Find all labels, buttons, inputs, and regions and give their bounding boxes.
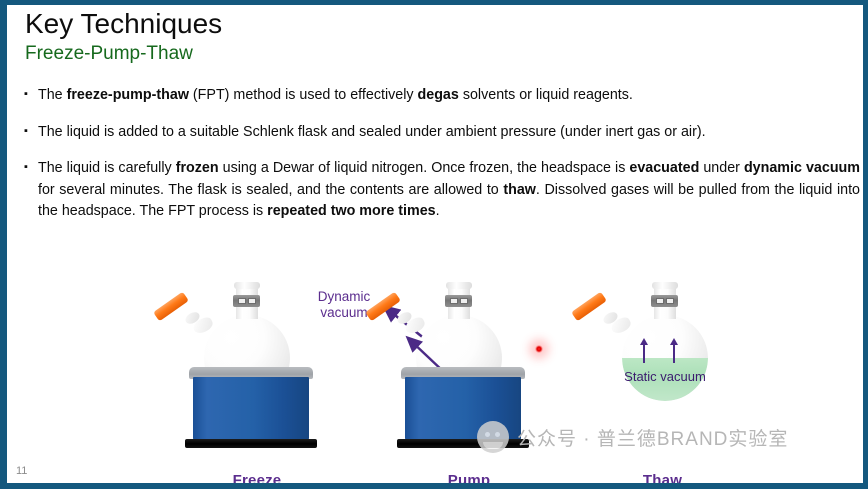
bullet-marker-icon: ▪ [24,121,28,143]
bullet-text: solvents or liquid reagents. [459,87,633,103]
slide-canvas: Key Techniques Freeze-Pump-Thaw ▪The fre… [0,0,868,489]
page-subtitle: Freeze-Pump-Thaw [25,42,725,66]
flask-bulb-icon [622,315,708,401]
bullet-text: The liquid is added to a suitable Schlen… [38,124,706,140]
bullet-text-emphasis: evacuated [629,160,699,176]
panel-thaw: Static vacuum Thaw [555,267,795,489]
bullet-text: using a Dewar of liquid nitrogen. Once f… [219,160,630,176]
dewar-body-icon [193,377,309,441]
bullet-text-emphasis: thaw [503,182,536,198]
bullet-text: . [436,203,440,219]
bullet-text: under [699,160,744,176]
bullet-text-emphasis: frozen [176,160,219,176]
panel-caption-pump: Pump [349,472,589,489]
dewar-body-icon [405,377,521,441]
dewar-base-icon [397,439,529,448]
flask-lip-icon [446,282,472,289]
bullet-text: The [38,87,67,103]
panel-caption-thaw: Thaw [555,472,770,489]
orange-stopcock-icon [571,292,607,322]
joint-clamp-icon [445,295,472,307]
bullet-list: ▪The freeze-pump-thaw (FPT) method is us… [24,85,860,223]
gas-rise-arrow-right-icon [673,343,675,363]
page-number: 11 [16,465,27,477]
vacuum-indicator-led-icon [535,345,543,353]
joint-clamp-icon [651,295,678,307]
panel-pump: Dynamic vacuum [349,267,589,489]
bullet-text: The liquid is carefully [38,160,176,176]
bullet-item: ▪The liquid is added to a suitable Schle… [24,122,860,144]
bullet-marker-icon: ▪ [24,84,28,106]
flask-lip-icon [234,282,260,289]
dewar-base-icon [185,439,317,448]
flask-lip-icon [652,282,678,289]
bullet-text-emphasis: degas [418,87,459,103]
title-block: Key Techniques Freeze-Pump-Thaw [25,7,725,66]
panel-caption-freeze: Freeze [137,472,377,489]
bullet-item: ▪The freeze-pump-thaw (FPT) method is us… [24,85,860,107]
bullet-text: for several minutes. The flask is sealed… [38,182,503,198]
bullet-item: ▪The liquid is carefully frozen using a … [24,158,860,223]
bullet-marker-icon: ▪ [24,157,28,179]
joint-clamp-icon [233,295,260,307]
gas-rise-arrow-left-icon [643,343,645,363]
orange-stopcock-icon [153,292,189,322]
bullet-text: (FPT) method is used to effectively [189,87,418,103]
bullet-text-emphasis: freeze-pump-thaw [67,87,189,103]
page-title: Key Techniques [25,7,725,41]
annotation-static-vacuum: Static vacuum [617,369,713,385]
bullet-text-emphasis: repeated two more times [267,203,435,219]
fpt-diagram: Freeze Dynamic vacuum [7,267,863,489]
bullet-text-emphasis: dynamic vacuum [744,160,860,176]
